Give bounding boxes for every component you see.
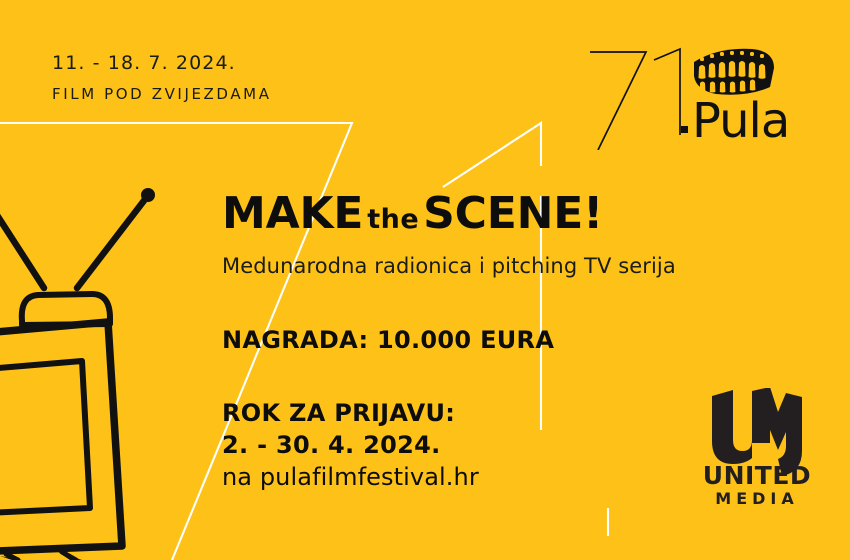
deadline-dates: 2. - 30. 4. 2024. [222,430,692,462]
festival-tagline: FILM POD ZVIJEZDAMA [52,85,272,105]
tv-screen [0,361,90,518]
pula-festival-logo: Pula [588,40,818,150]
tv-body [0,322,122,556]
tv-leg-stroke-left [6,554,18,560]
festival-date-block: 11. - 18. 7. 2024. FILM POD ZVIJEZDAMA [52,52,272,104]
tv-leg-stroke-right [62,552,76,560]
exclamation-hatching [0,368,2,494]
pula-arena-icon [694,49,774,95]
logo-city-name: Pula [692,93,789,149]
tv-antenna-right [77,198,146,288]
tv-antenna-tip-right [141,188,155,202]
deadline-url: na pulafilmfestival.hr [222,462,692,494]
logo-numeral-one [654,49,680,135]
page-subtitle: Medunarodna radionica i pitching TV seri… [222,254,692,279]
logo-period [681,126,688,133]
united-media-logo: UNITED MEDIA [692,388,822,506]
tv-antenna-left [0,198,44,288]
headline-word-the: the [363,204,423,235]
deadline-block: ROK ZA PRIJAVU: 2. - 30. 4. 2024. na pul… [222,398,692,494]
sponsor-name-line2: MEDIA [715,489,798,506]
main-content: MAKEtheSCENE! Medunarodna radionica i pi… [222,192,692,494]
logo-numeral-seven [590,52,646,150]
retro-tv-icon [0,128,220,560]
bg-line-one-top [443,123,541,187]
festival-dates: 11. - 18. 7. 2024. [52,52,272,76]
poster-canvas: 11. - 18. 7. 2024. FILM POD ZVIJEZDAMA [0,0,850,560]
headline-word-make: MAKE [222,188,363,239]
deadline-label: ROK ZA PRIJAVU: [222,398,692,430]
headline-word-scene: SCENE! [423,188,603,239]
page-title: MAKEtheSCENE! [222,192,692,236]
sponsor-name-line1: UNITED [703,461,811,490]
prize-amount: NAGRADA: 10.000 EURA [222,326,692,354]
